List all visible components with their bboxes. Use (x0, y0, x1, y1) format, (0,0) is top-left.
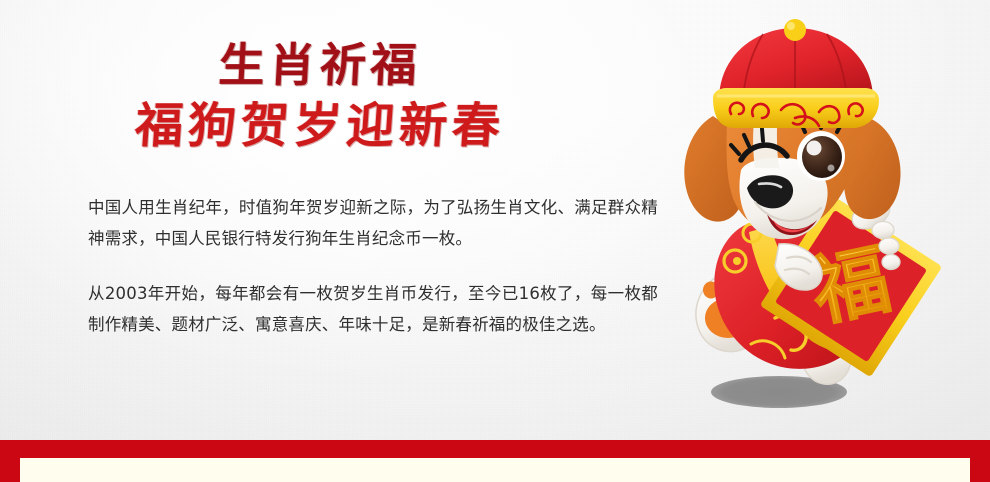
paragraph-1: 中国人用生肖纪年，时值狗年贺岁迎新之际，为了弘扬生肖文化、满足群众精神需求，中国… (88, 192, 658, 254)
cap-pompom (784, 19, 806, 41)
mascot-eye-right-open (797, 131, 845, 181)
promo-banner: 生肖祈福 福狗贺岁迎新春 中国人用生肖纪年，时值狗年贺岁迎新之际，为了弘扬生肖文… (0, 0, 990, 482)
title-line-2: 福狗贺岁迎新春 (0, 102, 642, 150)
mascot-dog-illustration: 福 福 (655, 18, 955, 418)
description-copy: 中国人用生肖纪年，时值狗年贺岁迎新之际，为了弘扬生肖文化、满足群众精神需求，中国… (88, 192, 658, 340)
cap-pompom-highlight (787, 22, 795, 30)
bottom-cream-panel (20, 458, 970, 482)
mascot-cap-brim (713, 88, 879, 128)
paragraph-2: 从2003年开始，每年都会有一枚贺岁生肖币发行，至今已16枚了，每一枚都制作精美… (88, 278, 658, 340)
title-line-1: 生肖祈福 (0, 42, 641, 88)
robe-coin-motif (733, 257, 741, 265)
title-block: 生肖祈福 福狗贺岁迎新春 (0, 42, 640, 150)
